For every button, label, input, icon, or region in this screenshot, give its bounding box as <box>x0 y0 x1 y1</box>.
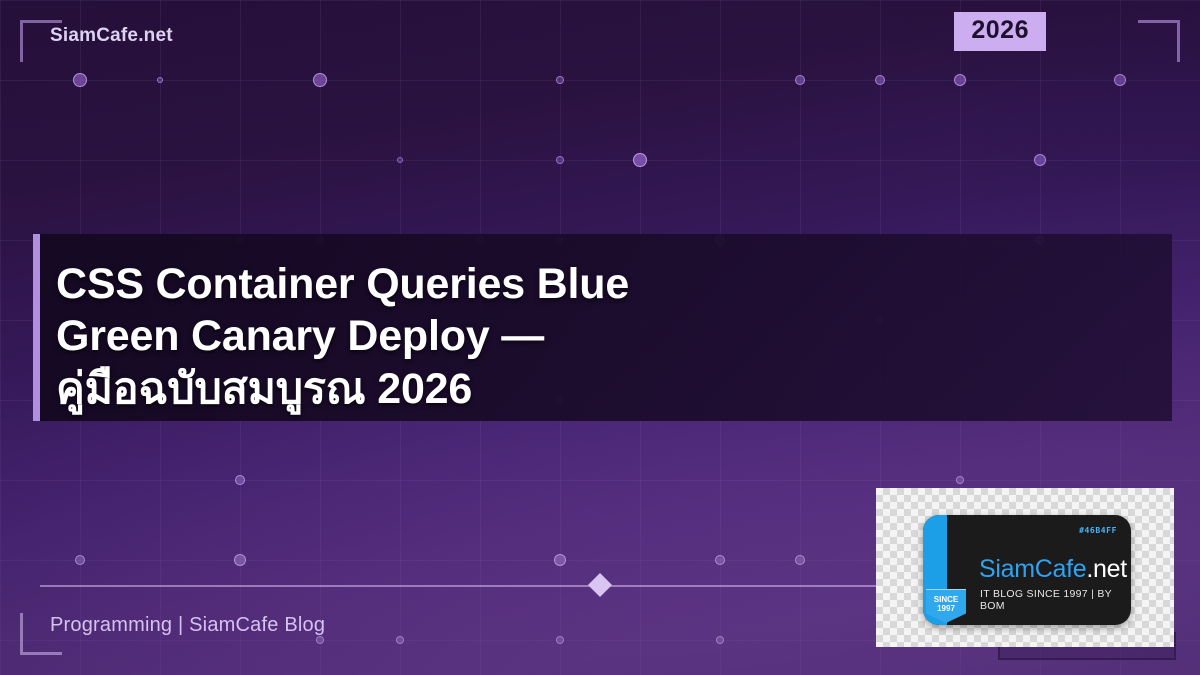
logo-hex-label: #46B4FF <box>1079 526 1117 535</box>
logo-card: #46B4FF SiamCafe.net IT BLOG SINCE 1997 … <box>876 488 1174 647</box>
divider-diamond-icon <box>588 573 612 597</box>
decor-dot <box>75 555 85 565</box>
decor-dot <box>556 76 564 84</box>
year-badge: 2026 <box>954 12 1046 51</box>
corner-bracket-top-right <box>1138 20 1180 62</box>
since-label: SINCE <box>926 595 966 604</box>
decor-dot <box>554 554 566 566</box>
decor-dot <box>556 156 564 164</box>
decor-dot <box>795 75 805 85</box>
title-line-2: Green Canary Deploy — <box>56 312 544 360</box>
decor-dot <box>235 475 245 485</box>
decor-dot <box>157 77 163 83</box>
decor-dot <box>716 636 724 644</box>
logo-inner-card: #46B4FF SiamCafe.net IT BLOG SINCE 1997 … <box>923 515 1131 625</box>
logo-wordmark-blue: SiamCafe <box>979 555 1086 583</box>
page-title: CSS Container Queries Blue Green Canary … <box>56 258 1146 415</box>
decor-dot <box>397 157 403 163</box>
logo-wordmark-white: .net <box>1086 555 1127 583</box>
logo-tagline: IT BLOG SINCE 1997 | BY BOM <box>980 588 1131 612</box>
decor-dot <box>795 555 805 565</box>
footer-category: Programming | SiamCafe Blog <box>50 614 325 637</box>
logo-wordmark: SiamCafe.net <box>979 555 1127 584</box>
decor-dot <box>396 636 404 644</box>
decor-dot <box>1114 74 1126 86</box>
decor-dot <box>1034 154 1046 166</box>
decor-dot <box>956 476 964 484</box>
decor-dot <box>954 74 966 86</box>
decor-dot <box>875 75 885 85</box>
decor-dot <box>313 73 327 87</box>
since-year: 1997 <box>926 604 966 613</box>
decor-dot <box>715 555 725 565</box>
decor-dot <box>633 153 647 167</box>
title-line-3: คู่มือฉบับสมบูรณ 2026 <box>56 365 472 413</box>
decor-dot <box>73 73 87 87</box>
title-line-1: CSS Container Queries Blue <box>56 260 629 308</box>
site-name: SiamCafe.net <box>50 25 173 47</box>
decor-dot <box>234 554 246 566</box>
decor-dot <box>316 636 324 644</box>
cover-image: SiamCafe.net 2026 CSS Container Queries … <box>0 0 1200 675</box>
decor-dot <box>556 636 564 644</box>
